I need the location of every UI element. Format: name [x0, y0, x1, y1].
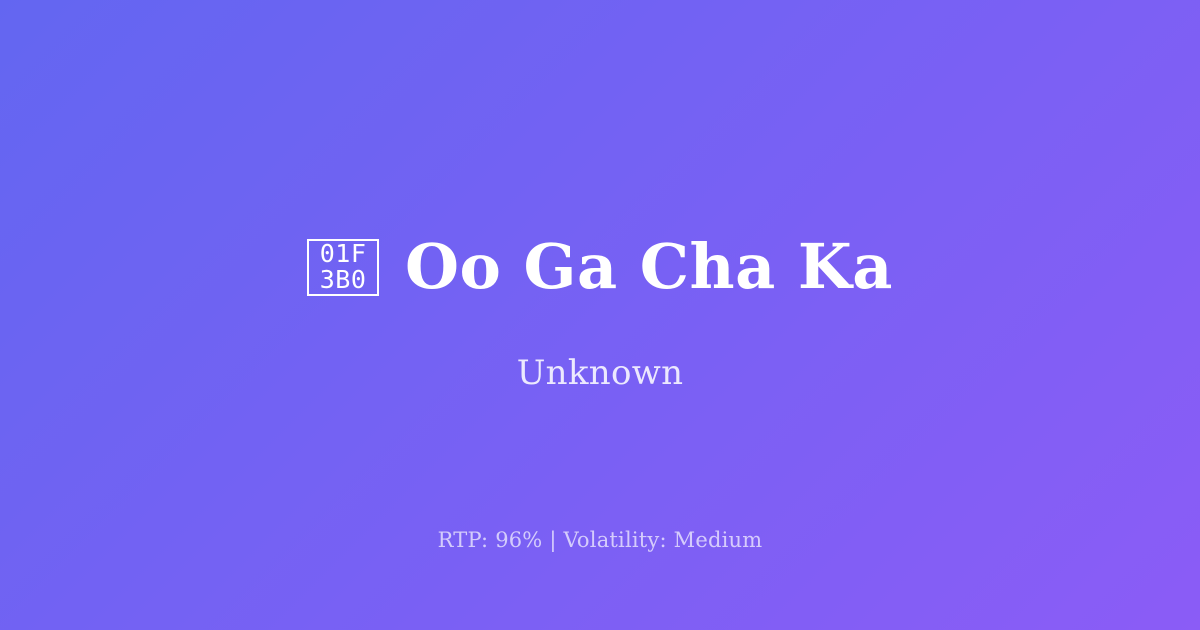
- game-provider-subtitle: Unknown: [517, 353, 684, 393]
- tofu-codepoint-top: 01F: [320, 241, 367, 267]
- tofu-codepoint-bottom: 3B0: [320, 267, 367, 293]
- game-stats-line: RTP: 96% | Volatility: Medium: [0, 528, 1200, 552]
- page-title: Oo Ga Cha Ka: [405, 236, 893, 298]
- slot-machine-emoji-tofu-icon: 01F 3B0: [307, 239, 379, 296]
- hero-section: 01F 3B0 Oo Ga Cha Ka Unknown: [0, 236, 1200, 393]
- game-title-row: 01F 3B0 Oo Ga Cha Ka: [307, 236, 893, 298]
